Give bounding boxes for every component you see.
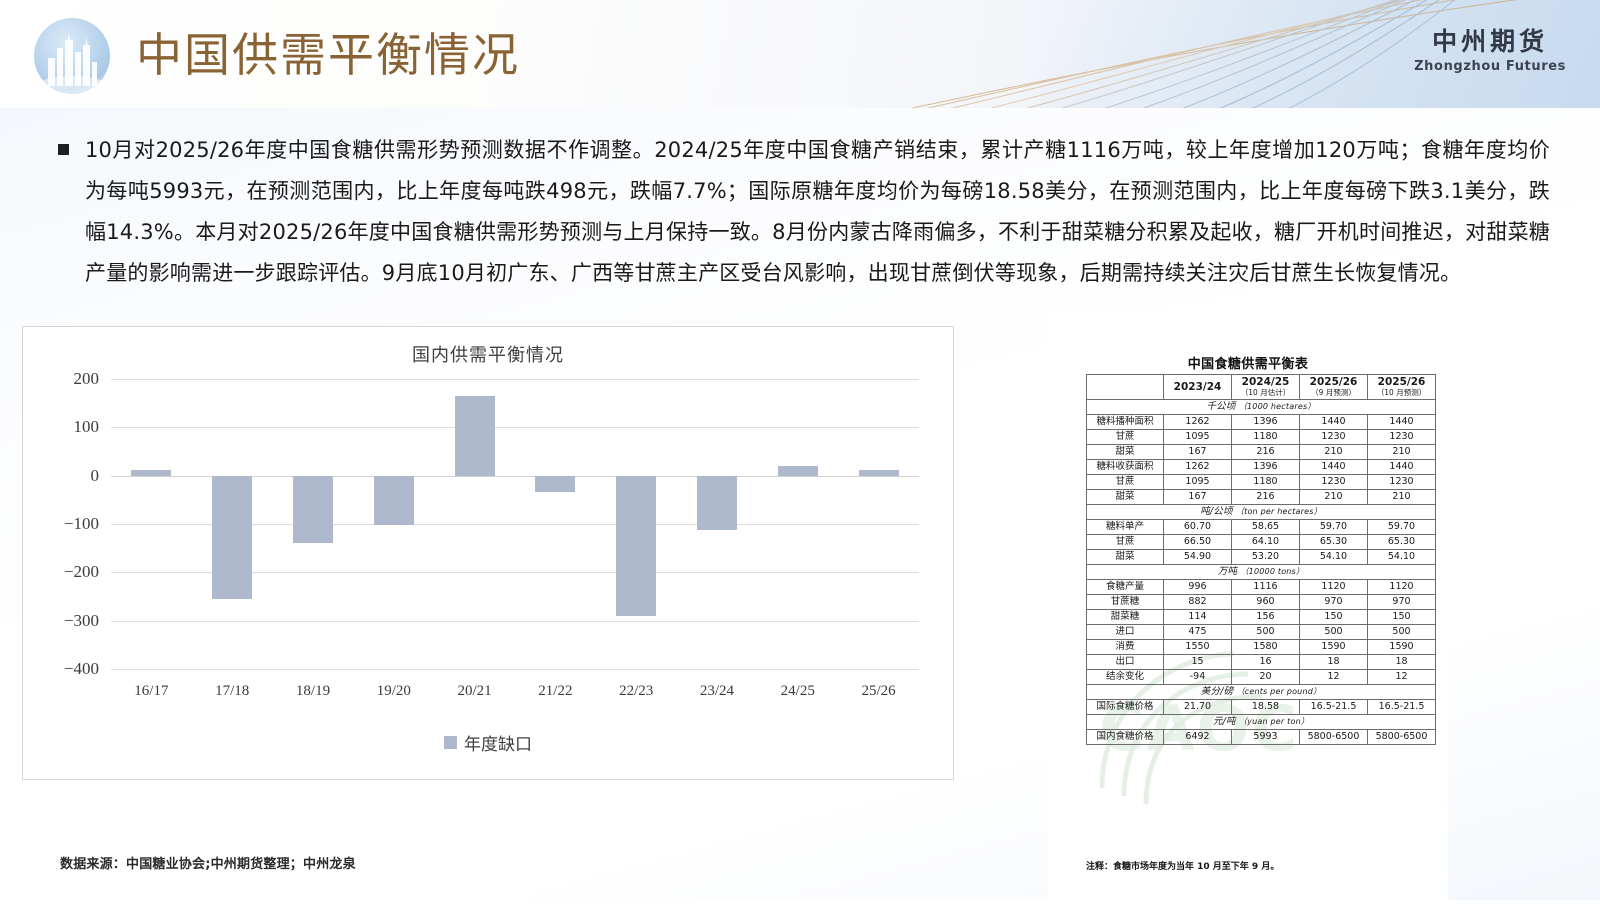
chart-bar bbox=[778, 466, 818, 476]
chart-x-tick-label: 18/19 bbox=[296, 683, 330, 700]
chart-title: 国内供需平衡情况 bbox=[23, 341, 953, 367]
table-row: 糖料单产60.7058.6559.7059.70 bbox=[1087, 520, 1436, 535]
table-row: 国际食糖价格21.7018.5816.5-21.516.5-21.5 bbox=[1087, 700, 1436, 715]
table-cell: 59.70 bbox=[1300, 520, 1368, 535]
table-corner-cell bbox=[1087, 375, 1164, 400]
table-cell: 54.10 bbox=[1368, 550, 1436, 565]
chart-bars: 16/1717/1818/1919/2020/2121/2222/2323/24… bbox=[111, 379, 919, 669]
table-row: 国内食糖价格649259935800-65005800-6500 bbox=[1087, 730, 1436, 745]
table-section-row: 元/吨 （yuan per ton） bbox=[1087, 715, 1436, 730]
table-cell: 1230 bbox=[1368, 475, 1436, 490]
chart-y-tick-label: −100 bbox=[64, 514, 99, 534]
table-cell: 1590 bbox=[1300, 640, 1368, 655]
table-row: 进口475500500500 bbox=[1087, 625, 1436, 640]
table-cell: 996 bbox=[1164, 580, 1232, 595]
table-column-header-main: 2025/26 bbox=[1310, 376, 1358, 388]
table-cell: 60.70 bbox=[1164, 520, 1232, 535]
table-cell: 5800-6500 bbox=[1368, 730, 1436, 745]
chart-x-tick-label: 16/17 bbox=[134, 683, 168, 700]
table-cell: 1116 bbox=[1232, 580, 1300, 595]
legend-label: 年度缺口 bbox=[464, 730, 532, 755]
table-cell: 58.65 bbox=[1232, 520, 1300, 535]
table-cell: 21.70 bbox=[1164, 700, 1232, 715]
table-cell: 1230 bbox=[1300, 430, 1368, 445]
table-row: 糖料播种面积1262139614401440 bbox=[1087, 415, 1436, 430]
table-column-header: 2024/25（10 月估计） bbox=[1232, 375, 1300, 400]
table-cell: 1120 bbox=[1368, 580, 1436, 595]
table-row-label: 甘蔗 bbox=[1087, 535, 1164, 550]
chart-x-tick-label: 21/22 bbox=[538, 683, 572, 700]
table-cell: 20 bbox=[1232, 670, 1300, 685]
table-section-unit-cn: 吨/公顷 bbox=[1200, 506, 1236, 517]
table-cell: 216 bbox=[1232, 445, 1300, 460]
table-cell: 18 bbox=[1300, 655, 1368, 670]
table-cell: 12 bbox=[1300, 670, 1368, 685]
chart-bar bbox=[131, 470, 171, 476]
chart-x-tick-label: 20/21 bbox=[457, 683, 491, 700]
table-cell: 16 bbox=[1232, 655, 1300, 670]
table-cell: 1440 bbox=[1368, 460, 1436, 475]
table-row-label: 甘蔗 bbox=[1087, 430, 1164, 445]
chart-bar-group: 19/20 bbox=[353, 379, 434, 669]
table-section-row: 千公顷 （1000 hectares） bbox=[1087, 400, 1436, 415]
table-cell: 150 bbox=[1368, 610, 1436, 625]
table-cell: 1180 bbox=[1232, 430, 1300, 445]
table-header-row: 2023/242024/25（10 月估计）2025/26（9 月预测）2025… bbox=[1087, 375, 1436, 400]
table-section-unit-cn: 万吨 bbox=[1218, 566, 1241, 577]
chart-bar bbox=[293, 476, 333, 544]
bullet-square-icon bbox=[58, 144, 69, 155]
table-row-label: 甘蔗糖 bbox=[1087, 595, 1164, 610]
chart-gridline bbox=[111, 669, 919, 670]
table-column-header-sub: （10 月估计） bbox=[1234, 388, 1297, 398]
table-cell: 6492 bbox=[1164, 730, 1232, 745]
table-section-unit-en: （10000 tons） bbox=[1240, 567, 1304, 576]
table-cell: 53.20 bbox=[1232, 550, 1300, 565]
table-cell: 1095 bbox=[1164, 430, 1232, 445]
table-row: 甜菜54.9053.2054.1054.10 bbox=[1087, 550, 1436, 565]
table-row-label: 结余变化 bbox=[1087, 670, 1164, 685]
chart-y-tick-label: −400 bbox=[64, 659, 99, 679]
table-cell: 970 bbox=[1368, 595, 1436, 610]
table-cell: 15 bbox=[1164, 655, 1232, 670]
table-row: 消费1550158015901590 bbox=[1087, 640, 1436, 655]
table-section-row: 吨/公顷 （ton per hectares） bbox=[1087, 505, 1436, 520]
summary-text: 10月对2025/26年度中国食糖供需形势预测数据不作调整。2024/25年度中… bbox=[85, 130, 1550, 294]
balance-table-panel: CAOC 中国食糖供需平衡表 2023/242024/25（10 月估计）202… bbox=[1048, 308, 1448, 908]
table-row-label: 糖料播种面积 bbox=[1087, 415, 1164, 430]
brand-name-cn: 中州期货 bbox=[1414, 26, 1566, 58]
chart-y-tick-label: −200 bbox=[64, 562, 99, 582]
chart-legend: 年度缺口 bbox=[23, 730, 953, 755]
table-section-label: 万吨 （10000 tons） bbox=[1087, 565, 1436, 580]
legend-swatch-icon bbox=[444, 736, 457, 749]
table-column-header-sub: （9 月预测） bbox=[1302, 388, 1365, 398]
chart-bar-group: 22/23 bbox=[596, 379, 677, 669]
table-row: 甘蔗糖882960970970 bbox=[1087, 595, 1436, 610]
chart-x-tick-label: 23/24 bbox=[700, 683, 734, 700]
supply-demand-chart: 国内供需平衡情况 2001000−100−200−300−400 16/1717… bbox=[22, 326, 954, 780]
table-cell: 1440 bbox=[1300, 460, 1368, 475]
table-cell: 1590 bbox=[1368, 640, 1436, 655]
table-cell: 210 bbox=[1368, 445, 1436, 460]
chart-x-tick-label: 25/26 bbox=[861, 683, 895, 700]
chart-bar bbox=[535, 476, 575, 492]
table-cell: 1440 bbox=[1368, 415, 1436, 430]
table-row-label: 甜菜 bbox=[1087, 490, 1164, 505]
summary-paragraph: 10月对2025/26年度中国食糖供需形势预测数据不作调整。2024/25年度中… bbox=[58, 130, 1550, 294]
table-cell: 500 bbox=[1300, 625, 1368, 640]
table-row-label: 糖料收获面积 bbox=[1087, 460, 1164, 475]
table-cell: 882 bbox=[1164, 595, 1232, 610]
table-row: 甘蔗1095118012301230 bbox=[1087, 475, 1436, 490]
chart-bar-group: 23/24 bbox=[677, 379, 758, 669]
table-row: 食糖产量996111611201120 bbox=[1087, 580, 1436, 595]
table-cell: 167 bbox=[1164, 445, 1232, 460]
table-note: 注释：食糖市场年度为当年 10 月至下年 9 月。 bbox=[1086, 859, 1279, 872]
table-column-header-main: 2024/25 bbox=[1242, 376, 1290, 388]
table-cell: 59.70 bbox=[1368, 520, 1436, 535]
table-title: 中国食糖供需平衡表 bbox=[1048, 353, 1448, 372]
table-row: 出口15161818 bbox=[1087, 655, 1436, 670]
table-cell: 1396 bbox=[1232, 415, 1300, 430]
table-section-unit-en: （1000 hectares） bbox=[1239, 402, 1316, 411]
chart-plot-area: 2001000−100−200−300−400 16/1717/1818/191… bbox=[111, 379, 919, 669]
chart-bar-group: 21/22 bbox=[515, 379, 596, 669]
table-section-unit-en: （ton per hectares） bbox=[1236, 507, 1322, 516]
table-cell: 475 bbox=[1164, 625, 1232, 640]
table-cell: 1396 bbox=[1232, 460, 1300, 475]
table-cell: 210 bbox=[1300, 490, 1368, 505]
table-section-label: 吨/公顷 （ton per hectares） bbox=[1087, 505, 1436, 520]
table-row: 结余变化-94201212 bbox=[1087, 670, 1436, 685]
table-cell: 1230 bbox=[1300, 475, 1368, 490]
table-cell: 210 bbox=[1368, 490, 1436, 505]
table-cell: 1580 bbox=[1232, 640, 1300, 655]
table-column-header-main: 2025/26 bbox=[1378, 376, 1426, 388]
table-column-header-sub: （10 月预测） bbox=[1370, 388, 1433, 398]
chart-bar-group: 24/25 bbox=[757, 379, 838, 669]
chart-x-tick-label: 22/23 bbox=[619, 683, 653, 700]
table-cell: 500 bbox=[1232, 625, 1300, 640]
chart-bar bbox=[616, 476, 656, 616]
chart-bar bbox=[455, 396, 495, 476]
chart-y-tick-label: 0 bbox=[91, 466, 100, 486]
chart-y-tick-label: 200 bbox=[74, 369, 100, 389]
table-cell: 18 bbox=[1368, 655, 1436, 670]
table-cell: 167 bbox=[1164, 490, 1232, 505]
city-skyline-logo-icon bbox=[34, 18, 110, 94]
table-cell: 1095 bbox=[1164, 475, 1232, 490]
chart-bar-group: 17/18 bbox=[192, 379, 273, 669]
table-section-unit-en: （yuan per ton） bbox=[1239, 717, 1309, 726]
chart-bar-group: 20/21 bbox=[434, 379, 515, 669]
table-body: 千公顷 （1000 hectares）糖料播种面积126213961440144… bbox=[1087, 400, 1436, 745]
table-row: 甜菜167216210210 bbox=[1087, 445, 1436, 460]
chart-x-tick-label: 24/25 bbox=[781, 683, 815, 700]
table-cell: 16.5-21.5 bbox=[1300, 700, 1368, 715]
chart-bar bbox=[374, 476, 414, 525]
company-logo: 中州期货 Zhongzhou Futures bbox=[1414, 26, 1566, 76]
table-row-label: 出口 bbox=[1087, 655, 1164, 670]
table-row-label: 国内食糖价格 bbox=[1087, 730, 1164, 745]
chart-bar-group: 25/26 bbox=[838, 379, 919, 669]
table-row-label: 食糖产量 bbox=[1087, 580, 1164, 595]
table-row-label: 甘蔗 bbox=[1087, 475, 1164, 490]
page-header: 中国供需平衡情况 中州期货 Zhongzhou Futures bbox=[0, 0, 1600, 108]
table-section-unit-cn: 千公顷 bbox=[1206, 401, 1238, 412]
table-section-row: 美分/磅 （cents per pound） bbox=[1087, 685, 1436, 700]
table-column-header: 2023/24 bbox=[1164, 375, 1232, 400]
table-row: 糖料收获面积1262139614401440 bbox=[1087, 460, 1436, 475]
table-cell: 1262 bbox=[1164, 460, 1232, 475]
chart-bar-group: 16/17 bbox=[111, 379, 192, 669]
chart-x-tick-label: 19/20 bbox=[377, 683, 411, 700]
table-cell: 1230 bbox=[1368, 430, 1436, 445]
table-cell: 1440 bbox=[1300, 415, 1368, 430]
table-cell: 150 bbox=[1300, 610, 1368, 625]
data-source-label: 数据来源：中国糖业协会;中州期货整理；中州龙泉 bbox=[60, 853, 356, 872]
table-cell: 54.90 bbox=[1164, 550, 1232, 565]
table-row: 甜菜167216210210 bbox=[1087, 490, 1436, 505]
table-section-unit-cn: 美分/磅 bbox=[1201, 686, 1237, 697]
table-row-label: 甜菜糖 bbox=[1087, 610, 1164, 625]
table-row: 甜菜糖114156150150 bbox=[1087, 610, 1436, 625]
table-cell: 960 bbox=[1232, 595, 1300, 610]
table-cell: 12 bbox=[1368, 670, 1436, 685]
table-column-header-main: 2023/24 bbox=[1174, 381, 1222, 393]
table-cell: 1262 bbox=[1164, 415, 1232, 430]
chart-bar bbox=[697, 476, 737, 531]
table-cell: 500 bbox=[1368, 625, 1436, 640]
page-title: 中国供需平衡情况 bbox=[136, 20, 520, 90]
table-cell: 210 bbox=[1300, 445, 1368, 460]
chart-bar bbox=[859, 470, 899, 476]
table-cell: 216 bbox=[1232, 490, 1300, 505]
table-cell: 66.50 bbox=[1164, 535, 1232, 550]
table-column-header: 2025/26（9 月预测） bbox=[1300, 375, 1368, 400]
slide-body: 10月对2025/26年度中国食糖供需形势预测数据不作调整。2024/25年度中… bbox=[0, 108, 1600, 900]
table-cell: 65.30 bbox=[1300, 535, 1368, 550]
table-section-label: 元/吨 （yuan per ton） bbox=[1087, 715, 1436, 730]
table-cell: 5993 bbox=[1232, 730, 1300, 745]
brand-name-en: Zhongzhou Futures bbox=[1414, 58, 1566, 76]
table-cell: 5800-6500 bbox=[1300, 730, 1368, 745]
table-head: 2023/242024/25（10 月估计）2025/26（9 月预测）2025… bbox=[1087, 375, 1436, 400]
table-section-unit-en: （cents per pound） bbox=[1237, 687, 1322, 696]
table-row: 甘蔗1095118012301230 bbox=[1087, 430, 1436, 445]
table-row-label: 进口 bbox=[1087, 625, 1164, 640]
table-cell: -94 bbox=[1164, 670, 1232, 685]
table-cell: 65.30 bbox=[1368, 535, 1436, 550]
table-cell: 16.5-21.5 bbox=[1368, 700, 1436, 715]
table-row-label: 甜菜 bbox=[1087, 550, 1164, 565]
table-cell: 64.10 bbox=[1232, 535, 1300, 550]
table-cell: 18.58 bbox=[1232, 700, 1300, 715]
table-section-row: 万吨 （10000 tons） bbox=[1087, 565, 1436, 580]
table-row-label: 糖料单产 bbox=[1087, 520, 1164, 535]
table-section-label: 千公顷 （1000 hectares） bbox=[1087, 400, 1436, 415]
table-row-label: 国际食糖价格 bbox=[1087, 700, 1164, 715]
table-row-label: 消费 bbox=[1087, 640, 1164, 655]
chart-y-tick-label: 100 bbox=[74, 417, 100, 437]
table-section-label: 美分/磅 （cents per pound） bbox=[1087, 685, 1436, 700]
table-cell: 970 bbox=[1300, 595, 1368, 610]
table-cell: 156 bbox=[1232, 610, 1300, 625]
china-sugar-balance-table: 2023/242024/25（10 月估计）2025/26（9 月预测）2025… bbox=[1086, 374, 1436, 745]
chart-bar-group: 18/19 bbox=[273, 379, 354, 669]
table-cell: 1120 bbox=[1300, 580, 1368, 595]
table-cell: 1180 bbox=[1232, 475, 1300, 490]
table-cell: 114 bbox=[1164, 610, 1232, 625]
table-cell: 1550 bbox=[1164, 640, 1232, 655]
chart-x-tick-label: 17/18 bbox=[215, 683, 249, 700]
table-row-label: 甜菜 bbox=[1087, 445, 1164, 460]
table-cell: 54.10 bbox=[1300, 550, 1368, 565]
chart-bar bbox=[212, 476, 252, 599]
table-column-header: 2025/26（10 月预测） bbox=[1368, 375, 1436, 400]
table-row: 甘蔗66.5064.1065.3065.30 bbox=[1087, 535, 1436, 550]
table-section-unit-cn: 元/吨 bbox=[1213, 716, 1239, 727]
chart-y-tick-label: −300 bbox=[64, 611, 99, 631]
